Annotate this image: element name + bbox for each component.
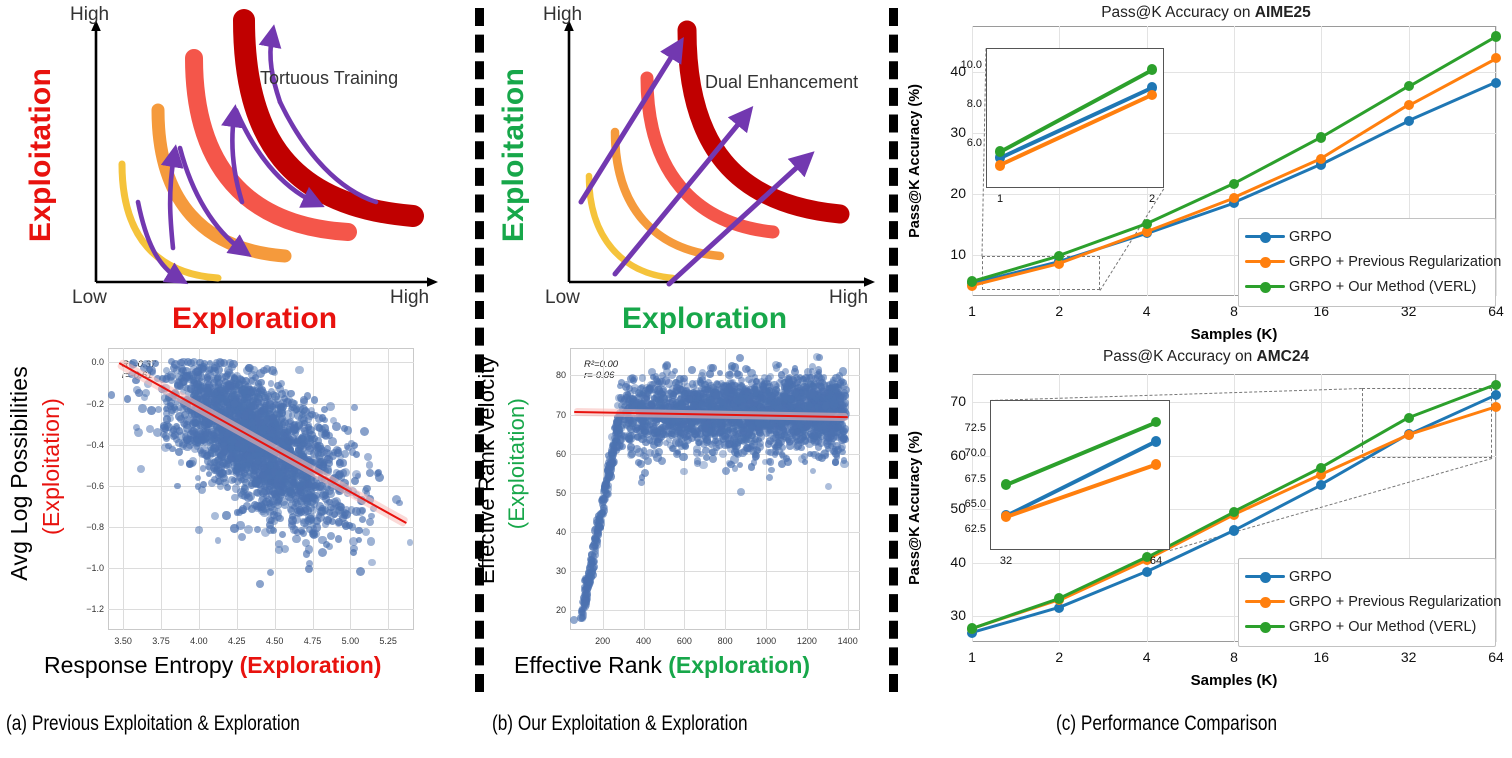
scatter-a-point [336,459,345,468]
scatter-a-point [364,453,372,461]
scatter-a-point [260,367,268,375]
scatter-a-gridline-v [123,348,124,630]
scatter-b-point [673,384,681,392]
scatter-b-point [643,393,651,401]
scatter-a-point [303,550,311,558]
scatter-a-point [300,396,308,404]
scatter-b-point [588,569,595,576]
scatter-b-point [623,422,630,429]
scatter-a-xlabel: Response Entropy (Exploration) [44,652,381,679]
scatter-b-point [653,453,661,461]
scatter-b-ytick: 50 [542,488,566,498]
scatter-b-point [733,427,739,433]
scatter-a-ytick: −0.2 [74,399,104,409]
scatter-a-point [141,394,148,401]
scatter-b-ylabel: Effective Rank Velocity (Exploitation) [472,352,538,628]
scatter-b-point [761,420,770,429]
scatter-a-point [311,396,319,404]
scatter-a-point [229,360,238,369]
scatter-a-point [344,426,353,435]
scatter-a-ylabel-main: Avg Log Possibilities [6,366,33,581]
scatter-a-point [299,411,306,418]
scatter-a-point [211,512,219,520]
scatter-b-point [680,468,688,476]
scatter-a-point [186,371,194,379]
scatter-a-point [288,520,296,528]
scatter-a-xlabel-sub: (Exploration) [240,652,382,678]
scatter-b-point [643,384,651,392]
scatter-a-point [201,450,210,459]
scatter-a-point [301,507,309,515]
scatter-plot-ours: R²=0.00 r=-0.06 Effective Rank Velocity … [470,338,890,688]
scatter-a-point [218,385,226,393]
scatter-a-point [309,493,317,501]
scatter-a-xlabel-main: Response Entropy [44,652,240,678]
scatter-b-point [635,459,642,466]
scatter-a-point [350,549,357,556]
scatter-b-point [608,464,615,471]
scatter-b-ytick: 60 [542,449,566,459]
scatter-a-point [351,404,358,411]
figure-root: High Low High Tortuous Training Exploita… [0,0,1512,758]
scatter-a-point [175,448,183,456]
scatter-a-point [294,437,301,444]
scatter-a-point [124,395,132,403]
scatter-a-point [263,453,270,460]
scatter-b-ylabel-main: Effective Rank Velocity [474,356,500,584]
scatter-b-point [636,426,645,435]
scatter-a-ytick: −1.2 [74,604,104,614]
scatter-a-point [179,358,188,367]
scatter-a-point [345,445,352,452]
concept-a-y-high: High [70,4,109,26]
scatter-b-xlabel-main: Effective Rank [514,652,668,678]
scatter-a-point [163,435,170,442]
scatter-b-stats: R²=0.00 r=-0.06 [584,359,618,381]
scatter-a-point [274,418,281,425]
scatter-b-point [694,460,701,467]
scatter-b-gridline-h [570,532,860,533]
scatter-b-point [684,383,691,390]
scatter-a-point [330,417,337,424]
scatter-a-point [287,390,295,398]
scatter-a-point [195,526,203,534]
scatter-a-point [308,407,315,414]
scatter-a-point [256,580,264,588]
scatter-a-point [215,537,222,544]
scatter-b-point [706,370,713,377]
scatter-b-point [722,467,730,475]
scatter-b-xtick: 1400 [832,636,864,646]
scatter-b-point [766,458,773,465]
scatter-b-point [748,463,756,471]
scatter-a-ytick: −0.4 [74,440,104,450]
scatter-b-point [589,543,596,550]
scatter-b-point [792,365,798,371]
scatter-b-ylabel-sub: (Exploitation) [504,398,530,529]
scatter-b-xtick: 200 [587,636,619,646]
scatter-b-point [721,428,728,435]
concept-b-svg [495,6,895,322]
scatter-plot-previous: R²=0.37 r=-0.61 Avg Log Possibilities (E… [0,338,470,688]
scatter-a-ylabel: Avg Log Possibilities (Exploitation) [4,354,74,624]
scatter-a-gridline-v [388,348,389,630]
scatter-a-gridline-h [108,609,414,610]
scatter-a-ytick: 0.0 [74,357,104,367]
scatter-a-point [254,489,262,497]
scatter-a-gridline-h [108,568,414,569]
scatter-a-point [264,469,272,477]
scatter-b-point [719,450,727,458]
scatter-a-xtick: 3.50 [107,636,139,646]
scatter-b-point [738,377,745,384]
scatter-a-point [254,506,261,513]
scatter-a-ytick: −0.6 [74,481,104,491]
scatter-a-point [275,546,283,554]
scatter-b-point [639,374,646,381]
scatter-b-xtick: 600 [668,636,700,646]
scatter-b-ytick: 80 [542,370,566,380]
scatter-a-point [243,502,251,510]
scatter-a-point [138,404,147,413]
scatter-a-point [305,480,313,488]
concept-diagram-ours: High Low High Dual Enhancement Exploitat… [495,6,895,322]
scatter-b-ytick: 70 [542,410,566,420]
scatter-a-point [273,482,280,489]
scatter-b-point [675,449,682,456]
scatter-a-point [181,421,188,428]
scatter-b-gridline-h [570,610,860,611]
scatter-b-point [839,449,846,456]
scatter-a-xtick: 5.25 [372,636,404,646]
scatter-b-point [734,370,741,377]
scatter-a-point [147,406,156,415]
scatter-b-xlabel-sub: (Exploration) [668,652,810,678]
scatter-a-point [244,525,253,534]
scatter-b-point [709,448,717,456]
scatter-b-xtick: 1200 [791,636,823,646]
scatter-a-point [322,506,329,513]
scatter-a-point [163,415,172,424]
scatter-a-point [231,376,239,384]
scatter-b-point [832,459,839,466]
scatter-a-point [263,493,270,500]
scatter-a-point [266,483,273,490]
scatter-a-point [208,396,216,404]
concept-b-y-high: High [543,4,582,26]
scatter-a-point [238,533,246,541]
scatter-b-point [705,379,712,386]
scatter-b-ytick: 40 [542,527,566,537]
scatter-a-point [268,388,275,395]
scatter-b-point [757,432,766,441]
scatter-a-point [246,453,254,461]
scatter-a-point [211,362,220,371]
scatter-b-r2: R²=0.00 [584,359,618,370]
scatter-b-point [841,457,848,464]
scatter-b-point [587,579,594,586]
scatter-b-point [804,420,813,429]
scatter-a-point [407,539,414,546]
scatter-b-point [579,614,587,622]
scatter-a-point [321,406,328,413]
scatter-a-point [302,539,310,547]
scatter-b-point [688,366,696,374]
scatter-b-point [587,556,594,563]
scatter-a-point [227,437,236,446]
scatter-a-ytick: −1.0 [74,563,104,573]
scatter-b-point [772,434,779,441]
scatter-b-gridline-h [570,571,860,572]
scatter-a-point [271,369,278,376]
scatter-a-ylabel-sub: (Exploitation) [38,398,65,535]
scatter-a-ytick: −0.8 [74,522,104,532]
scatter-b-point [737,383,745,391]
scatter-a-point [182,384,189,391]
concept-a-x-high: High [390,287,429,309]
scatter-a-point [285,484,294,493]
scatter-b-point [787,387,794,394]
scatter-a-xtick: 3.75 [145,636,177,646]
scatter-b-point [663,440,669,446]
concept-b-annotation: Dual Enhancement [705,72,858,93]
scatter-b-point [584,590,592,598]
scatter-b-point [765,387,774,396]
scatter-a-point [318,548,327,557]
concept-a-x-low: Low [72,287,107,309]
scatter-a-point [178,459,185,466]
scatter-a-point [311,441,319,449]
scatter-b-xtick: 1000 [750,636,782,646]
scatter-a-point [295,490,302,497]
scatter-b-ytick: 20 [542,605,566,615]
concept-b-y-axis-label: Exploitation [497,68,531,242]
scatter-a-point [221,479,228,486]
scatter-b-point [599,501,606,508]
scatter-a-point [222,511,230,519]
scatter-a-point [174,483,181,490]
scatter-a-point [228,456,235,463]
concept-a-annotation: Tortuous Training [260,68,398,89]
scatter-a-point [269,506,278,515]
scatter-b-xtick: 800 [709,636,741,646]
scatter-a-point [252,478,261,487]
concept-diagram-previous: High Low High Tortuous Training Exploita… [18,6,458,322]
scatter-a-point [351,477,359,485]
scatter-b-point [746,445,754,453]
scatter-b-point [725,371,734,380]
scatter-b-point [679,453,687,461]
concept-a-x-axis-label: Exploration [172,302,337,336]
scatter-a-point [277,426,284,433]
scatter-a-xtick: 4.00 [183,636,215,646]
scatter-a-xtick: 4.25 [221,636,253,646]
scatter-a-point [279,497,288,506]
scatter-a-xtick: 4.75 [297,636,329,646]
concept-a-svg [18,6,458,322]
scatter-b-point [662,363,669,370]
scatter-a-xtick: 4.50 [259,636,291,646]
scatter-b-point [736,354,744,362]
scatter-b-point [810,468,816,474]
scatter-a-point [169,428,178,437]
scatter-b-point [703,437,711,445]
scatter-a-point [355,527,363,535]
scatter-a-point [240,443,249,452]
scatter-b-point [720,389,728,397]
scatter-b-ytick: 30 [542,566,566,576]
concept-b-x-low: Low [545,287,580,309]
scatter-b-point [809,363,816,370]
scatter-b-point [659,372,666,379]
scatter-b-gridline-h [570,493,860,494]
scatter-b-point [734,451,740,457]
scatter-b-point [839,367,848,376]
scatter-a-point [248,411,256,419]
scatter-a-xtick: 5.00 [334,636,366,646]
scatter-a-point [108,391,116,399]
scatter-b-point [606,473,613,480]
concept-b-x-high: High [829,287,868,309]
scatter-a-point [189,457,197,465]
scatter-a-point [178,368,186,376]
scatter-a-point [340,469,348,477]
scatter-b-point [627,443,635,451]
scatter-b-point [802,437,808,443]
scatter-a-point [366,461,374,469]
scatter-a-point [260,425,268,433]
scatter-b-xlabel: Effective Rank (Exploration) [514,652,810,679]
scatter-a-point [261,528,270,537]
scatter-a-point [323,449,331,457]
scatter-a-point [239,385,248,394]
scatter-b-xtick: 400 [628,636,660,646]
concept-a-y-axis-label: Exploitation [24,68,58,242]
scatter-a-point [392,495,401,504]
concept-b-x-axis-label: Exploration [622,302,787,336]
scatter-a-point [194,371,203,380]
scatter-a-point [333,446,341,454]
scatter-b-point [638,479,645,486]
scatter-b-point [829,428,838,437]
